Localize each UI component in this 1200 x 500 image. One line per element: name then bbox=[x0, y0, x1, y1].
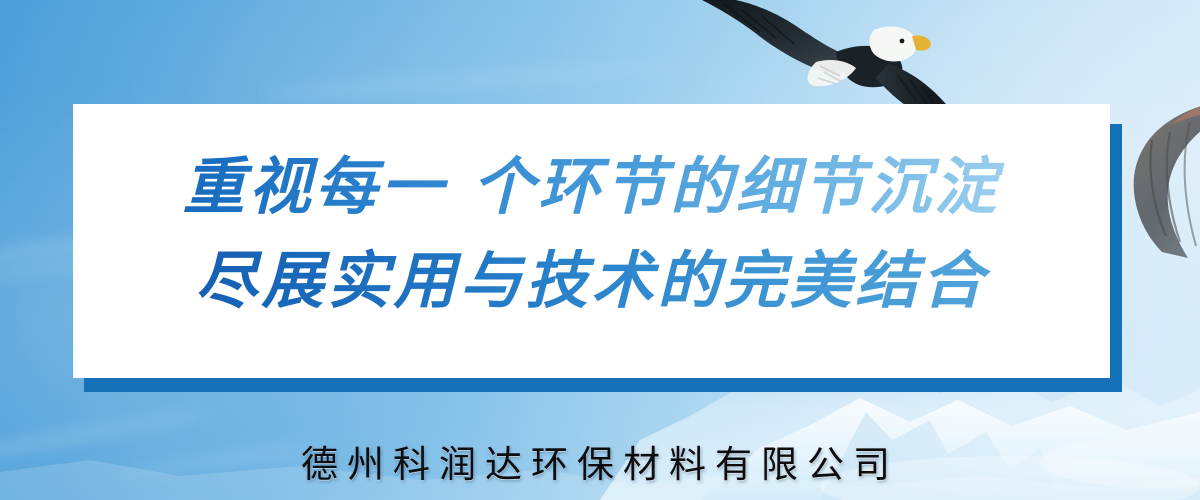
eagle-wing-icon bbox=[1122, 96, 1200, 266]
headline-card: 重视每一 个环节的细节沉淀 尽展实用与技术的完美结合 bbox=[73, 104, 1110, 378]
headline-block: 重视每一 个环节的细节沉淀 尽展实用与技术的完美结合 bbox=[73, 140, 1110, 328]
headline-line-1: 重视每一 个环节的细节沉淀 bbox=[73, 140, 1110, 234]
eagle-icon bbox=[690, 0, 960, 112]
promotional-banner: 重视每一 个环节的细节沉淀 尽展实用与技术的完美结合 德州科润达环保材料有限公司 bbox=[0, 0, 1200, 500]
headline-line-2: 尽展实用与技术的完美结合 bbox=[73, 234, 1110, 328]
company-name: 德州科润达环保材料有限公司 bbox=[0, 434, 1200, 488]
